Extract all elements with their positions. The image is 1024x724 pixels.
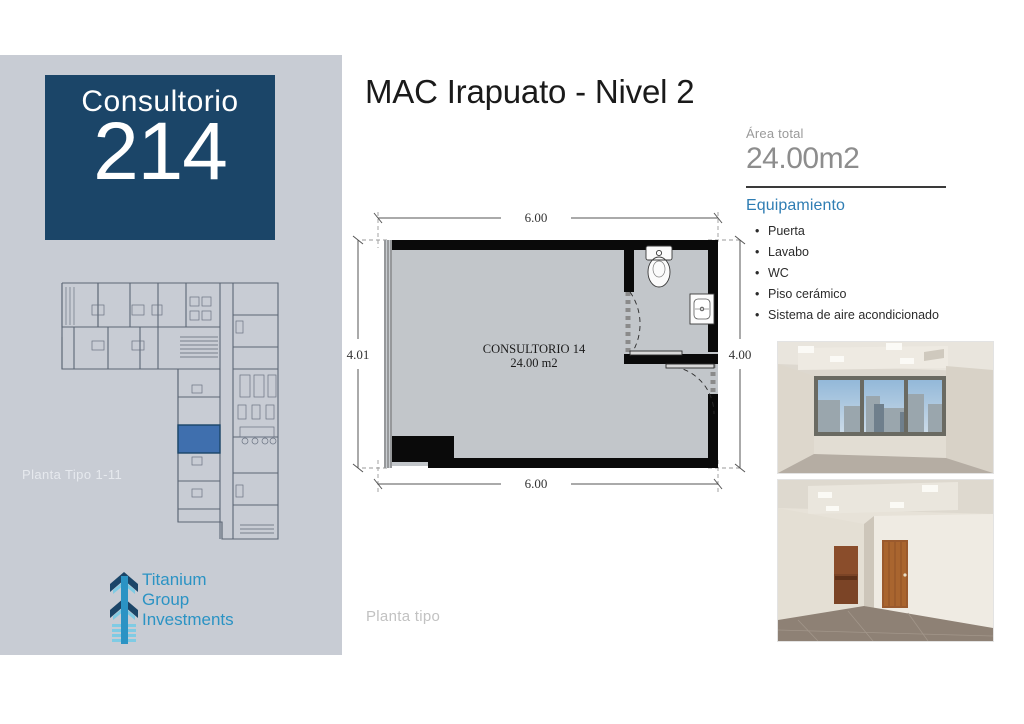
- dimension-top: [374, 213, 722, 223]
- logo-line-1: Titanium: [142, 570, 234, 590]
- list-item: WC: [746, 263, 996, 284]
- company-logo-text: Titanium Group Investments: [142, 570, 234, 630]
- dimension-right-label: 4.00: [729, 347, 752, 362]
- dimension-left-label: 4.01: [347, 347, 370, 362]
- info-panel: Área total 24.00m2 Equipamiento Puerta L…: [746, 126, 996, 326]
- unit-badge-number: 214: [45, 114, 275, 189]
- floor-plan: 6.00 6.00 4.01 4.00: [336, 196, 766, 506]
- page-title: MAC Irapuato - Nivel 2: [365, 73, 694, 111]
- room-name-label: CONSULTORIO 14: [483, 342, 586, 356]
- list-item: Lavabo: [746, 242, 996, 263]
- company-logo: Titanium Group Investments: [104, 568, 244, 646]
- equipment-heading: Equipamiento: [746, 197, 996, 215]
- titanium-chevron-logo-icon: [104, 568, 146, 646]
- divider: [746, 186, 946, 188]
- area-total-label: Área total: [746, 126, 996, 141]
- area-total-value: 24.00m2: [746, 142, 996, 177]
- wc-fixture: [646, 246, 672, 287]
- dimension-bottom-label: 6.00: [525, 476, 548, 491]
- sidebar: Consultorio 214: [0, 55, 342, 655]
- interior-door-cabinet-render[interactable]: [777, 479, 994, 642]
- logo-line-2: Group: [142, 590, 234, 610]
- site-plan-thumbnail[interactable]: [40, 277, 310, 547]
- site-plan-label: Planta Tipo 1-11: [22, 467, 122, 482]
- list-item: Piso cerámico: [746, 284, 996, 305]
- curtain-wall-glazing: [384, 240, 392, 468]
- floor-plan-svg: 6.00 6.00 4.01 4.00: [336, 196, 766, 506]
- dimension-bottom: [374, 479, 722, 489]
- list-item: Puerta: [746, 221, 996, 242]
- interior-window-view-render[interactable]: [777, 341, 994, 474]
- site-plan-svg: [40, 277, 310, 547]
- lavabo-fixture: [690, 294, 714, 324]
- list-item: Sistema de aire acondicionado: [746, 305, 996, 326]
- dimension-top-label: 6.00: [525, 210, 548, 225]
- unit-badge: Consultorio 214: [45, 75, 275, 240]
- room-area-label: 24.00 m2: [510, 356, 557, 370]
- floor-plan-caption: Planta tipo: [366, 608, 440, 625]
- equipment-list: Puerta Lavabo WC Piso cerámico Sistema d…: [746, 221, 996, 326]
- logo-line-3: Investments: [142, 610, 234, 630]
- site-plan-highlighted-unit[interactable]: [178, 425, 220, 453]
